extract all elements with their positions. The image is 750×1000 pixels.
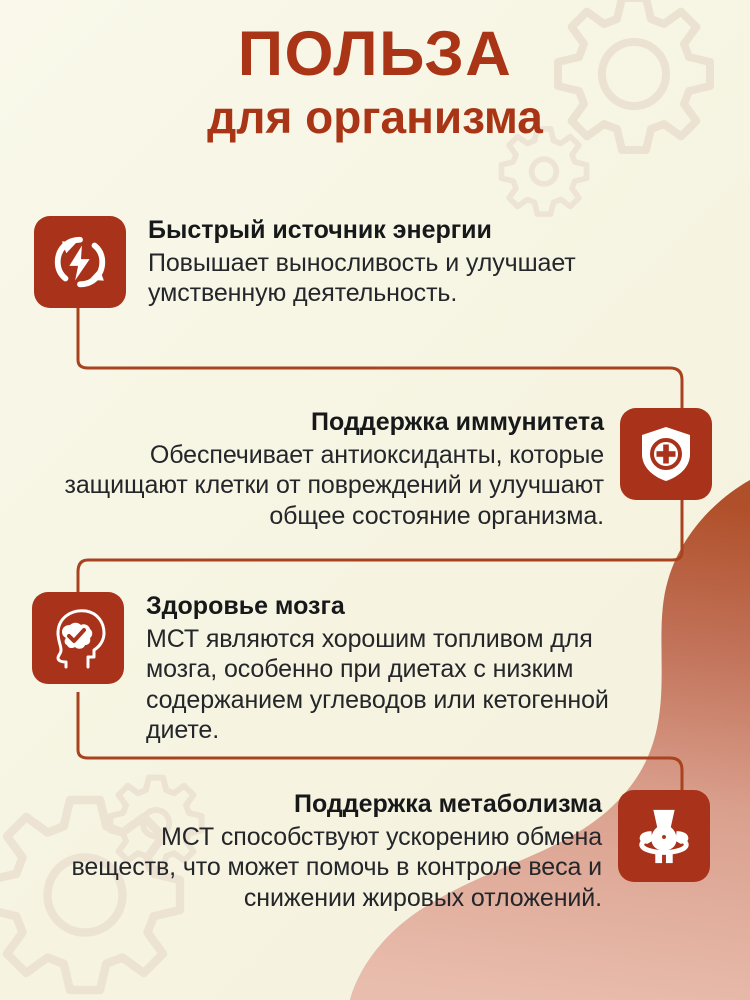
benefit-item-immunity: Поддержка иммунитета Обеспечивает антиок…	[34, 408, 712, 531]
infographic-poster: ПОЛЬЗА для организма Быстрый источник эн…	[0, 0, 750, 1000]
title-subtitle: для организма	[0, 92, 750, 143]
shield-plus-icon	[638, 424, 694, 484]
energy-cycle-icon	[49, 231, 111, 293]
waist-measure-icon	[634, 806, 694, 866]
head-brain-check-icon	[48, 607, 108, 669]
benefit-text-immunity: Поддержка иммунитета Обеспечивает антиок…	[34, 408, 604, 531]
waist-measure-icon-box	[618, 790, 710, 882]
benefit-text-metabolism: Поддержка метаболизма МСТ способствуют у…	[50, 790, 602, 913]
benefit-item-metabolism: Поддержка метаболизма МСТ способствуют у…	[50, 790, 710, 913]
head-brain-check-icon-box	[32, 592, 124, 684]
benefit-description: Обеспечивает антиоксиданты, которые защи…	[34, 440, 604, 532]
benefit-title: Поддержка иммунитета	[34, 408, 604, 437]
benefit-item-energy: Быстрый источник энергии Повышает выносл…	[34, 216, 658, 309]
benefit-text-energy: Быстрый источник энергии Повышает выносл…	[148, 216, 658, 309]
benefit-description: МСТ способствуют ускорению обмена вещест…	[50, 822, 602, 914]
benefit-description: МСТ являются хорошим топливом для мозга,…	[146, 624, 646, 746]
title-main: ПОЛЬЗА	[0, 22, 750, 86]
shield-plus-icon-box	[620, 408, 712, 500]
benefit-title: Быстрый источник энергии	[148, 216, 658, 245]
energy-cycle-icon-box	[34, 216, 126, 308]
benefit-text-brain: Здоровье мозга МСТ являются хорошим топл…	[146, 592, 646, 746]
benefit-title: Поддержка метаболизма	[50, 790, 602, 819]
benefit-description: Повышает выносливость и улучшает умствен…	[148, 248, 658, 309]
benefit-item-brain: Здоровье мозга МСТ являются хорошим топл…	[32, 592, 646, 746]
benefit-title: Здоровье мозга	[146, 592, 646, 621]
page-title: ПОЛЬЗА для организма	[0, 0, 750, 143]
